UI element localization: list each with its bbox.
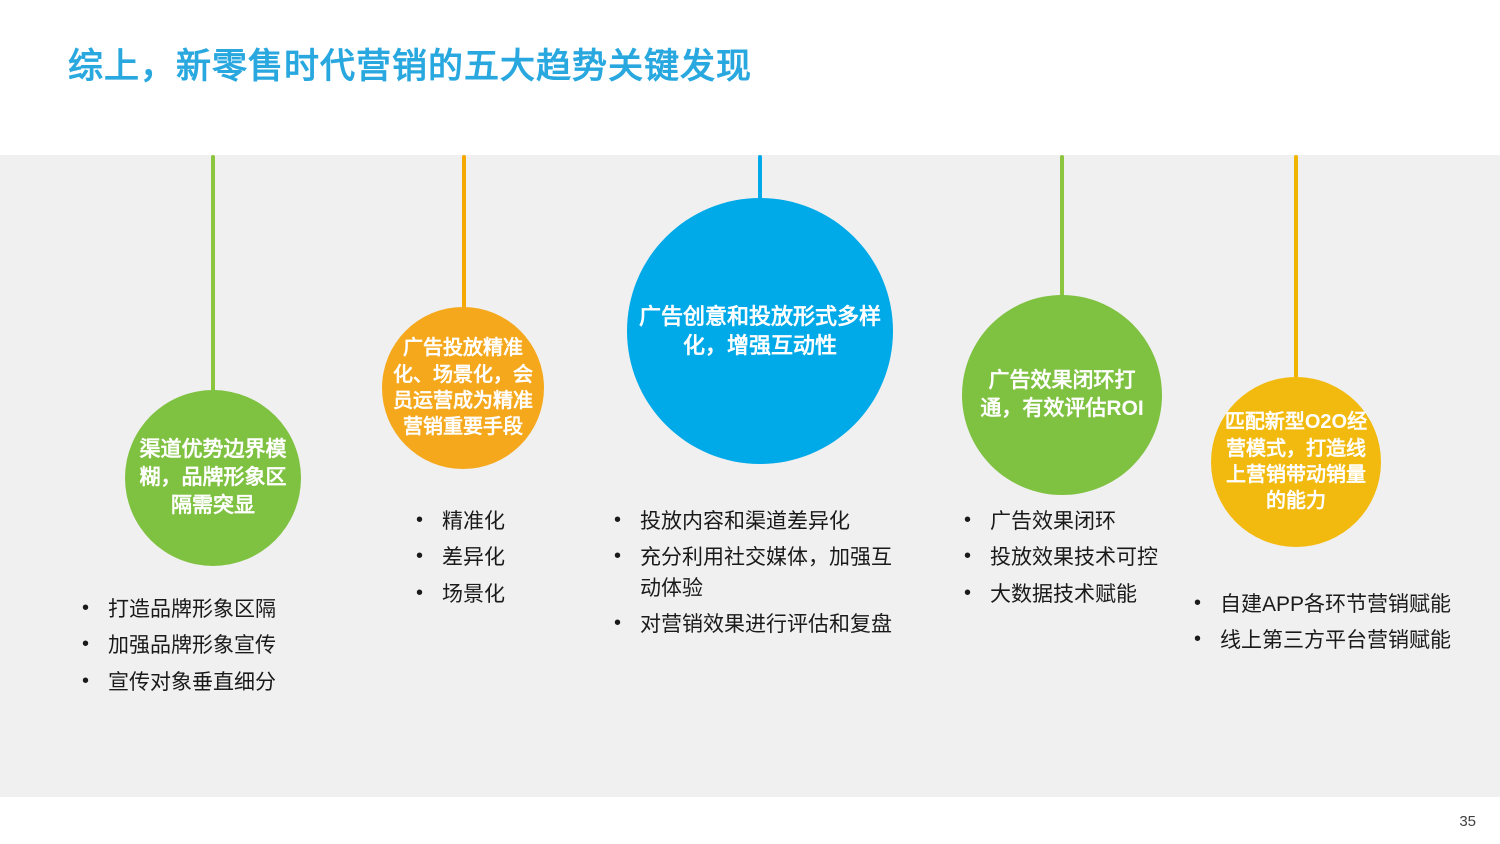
- balloon-label-3: 广告创意和投放形式多样化，增强互动性: [637, 302, 883, 360]
- balloon-group-4: 广告效果闭环打通，有效评估ROI 广告效果闭环 投放效果技术可控 大数据技术赋能: [940, 155, 1200, 797]
- balloon-4[interactable]: 广告效果闭环打通，有效评估ROI: [962, 295, 1162, 495]
- bullet-list-1: 打造品牌形象区隔 加强品牌形象宣传 宣传对象垂直细分: [78, 595, 378, 704]
- slide-title: 综上，新零售时代营销的五大趋势关键发现: [68, 46, 752, 88]
- list-item: 充分利用社交媒体，加强互动体验: [610, 543, 910, 604]
- balloon-label-1: 渠道优势边界模糊，品牌形象区隔需突显: [135, 436, 291, 519]
- bullet-list-3: 投放内容和渠道差异化 充分利用社交媒体，加强互动体验 对营销效果进行评估和复盘: [610, 507, 910, 647]
- balloon-label-4: 广告效果闭环打通，有效评估ROI: [972, 367, 1152, 422]
- list-item: 线上第三方平台营销赋能: [1190, 626, 1460, 656]
- list-item: 宣传对象垂直细分: [78, 668, 378, 698]
- balloon-stem-2: [462, 155, 466, 313]
- bullet-list-2: 精准化 差异化 场景化: [412, 507, 612, 616]
- balloon-group-5: 匹配新型O2O经营模式，打造线上营销带动销量的能力 自建APP各环节营销赋能 线…: [1180, 155, 1480, 797]
- list-item: 广告效果闭环: [960, 507, 1210, 537]
- balloon-5[interactable]: 匹配新型O2O经营模式，打造线上营销带动销量的能力: [1211, 377, 1381, 547]
- page-number: 35: [1459, 813, 1476, 830]
- balloon-1[interactable]: 渠道优势边界模糊，品牌形象区隔需突显: [125, 390, 301, 566]
- list-item: 加强品牌形象宣传: [78, 631, 378, 661]
- content-panel: 渠道优势边界模糊，品牌形象区隔需突显 打造品牌形象区隔 加强品牌形象宣传 宣传对…: [0, 155, 1500, 797]
- list-item: 自建APP各环节营销赋能: [1190, 590, 1460, 620]
- balloon-3[interactable]: 广告创意和投放形式多样化，增强互动性: [627, 198, 893, 464]
- balloon-group-3: 广告创意和投放形式多样化，增强互动性 投放内容和渠道差异化 充分利用社交媒体，加…: [600, 155, 960, 797]
- list-item: 投放效果技术可控: [960, 543, 1210, 573]
- list-item: 对营销效果进行评估和复盘: [610, 610, 910, 640]
- balloon-stem-4: [1060, 155, 1064, 298]
- list-item: 差异化: [412, 543, 612, 573]
- list-item: 场景化: [412, 580, 612, 610]
- balloon-label-5: 匹配新型O2O经营模式，打造线上营销带动销量的能力: [1221, 409, 1371, 515]
- bullet-list-4: 广告效果闭环 投放效果技术可控 大数据技术赋能: [960, 507, 1210, 616]
- list-item: 投放内容和渠道差异化: [610, 507, 910, 537]
- bullet-list-5: 自建APP各环节营销赋能 线上第三方平台营销赋能: [1190, 590, 1460, 663]
- balloon-group-2: 广告投放精准化、场景化，会员运营成为精准营销重要手段 精准化 差异化 场景化: [340, 155, 620, 797]
- balloon-label-2: 广告投放精准化、场景化，会员运营成为精准营销重要手段: [392, 335, 534, 441]
- balloon-stem-1: [211, 155, 215, 395]
- list-item: 大数据技术赋能: [960, 580, 1210, 610]
- balloon-2[interactable]: 广告投放精准化、场景化，会员运营成为精准营销重要手段: [382, 307, 544, 469]
- balloon-stem-5: [1294, 155, 1298, 383]
- list-item: 打造品牌形象区隔: [78, 595, 378, 625]
- list-item: 精准化: [412, 507, 612, 537]
